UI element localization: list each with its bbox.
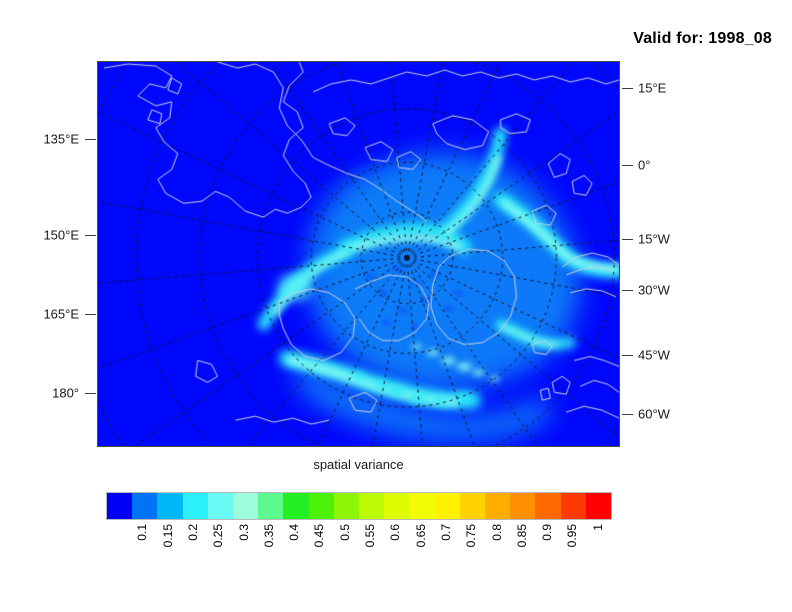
colorbar-band	[107, 493, 132, 519]
colorbar-band	[535, 493, 560, 519]
colorbar-band	[460, 493, 485, 519]
colorbar-tick-label: 0.75	[464, 524, 478, 547]
colorbar-band	[435, 493, 460, 519]
colorbar-tick-label: 0.3	[237, 524, 251, 541]
colorbar-tick-label: 0.6	[388, 524, 402, 541]
axis-tick	[85, 235, 96, 236]
colorbar-tick-label: 0.1	[135, 524, 149, 541]
axis-tick	[622, 165, 633, 166]
colorbar-band	[183, 493, 208, 519]
colorbar-band	[258, 493, 283, 519]
colorbar-band	[132, 493, 157, 519]
axis-tick	[85, 393, 96, 394]
axis-label: 135°E	[43, 132, 79, 145]
axis-tick	[85, 314, 96, 315]
colorbar-band	[208, 493, 233, 519]
colorbar-band	[157, 493, 182, 519]
colorbar-band	[359, 493, 384, 519]
axis-tick	[622, 239, 633, 240]
axis-label: 30°W	[638, 284, 670, 297]
colorbar-tick-label: 0.7	[439, 524, 453, 541]
colorbar-band	[586, 493, 611, 519]
colorbar-caption: spatial variance	[97, 457, 620, 472]
colorbar-band	[283, 493, 308, 519]
colorbar-tick-label: 0.35	[262, 524, 276, 547]
colorbar-tick-label: 0.25	[211, 524, 225, 547]
colorbar-band	[309, 493, 334, 519]
axis-tick	[85, 139, 96, 140]
colorbar-swatches	[106, 492, 612, 520]
colorbar-tick-label: 0.4	[287, 524, 301, 541]
axis-label: 180°	[52, 386, 79, 399]
colorbar-tick-label: 0.55	[363, 524, 377, 547]
colorbar-band	[233, 493, 258, 519]
axis-label: 15°E	[638, 82, 666, 95]
axis-label: 150°E	[43, 228, 79, 241]
axis-label: 45°W	[638, 349, 670, 362]
colorbar-band	[334, 493, 359, 519]
colorbar-tick-label: 0.2	[186, 524, 200, 541]
colorbar-band	[409, 493, 434, 519]
colorbar-tick-label: 0.95	[565, 524, 579, 547]
colorbar-tick-label: 0.65	[414, 524, 428, 547]
colorbar-tick-label: 0.85	[515, 524, 529, 547]
colorbar-tick-label: 0.5	[338, 524, 352, 541]
axis-tick	[622, 88, 633, 89]
colorbar-tick-label: 0.45	[312, 524, 326, 547]
axis-label: 0°	[638, 159, 650, 172]
colorbar-tick-label: 0.15	[161, 524, 175, 547]
colorbar-tick-label: 0.8	[490, 524, 504, 541]
colorbar-tick-label: 1	[591, 524, 605, 531]
colorbar-band	[384, 493, 409, 519]
axis-label: 60°W	[638, 408, 670, 421]
axis-tick	[622, 414, 633, 415]
page-title: Valid for: 1998_08	[633, 30, 772, 48]
axis-tick	[622, 290, 633, 291]
map-plot-frame	[97, 61, 620, 447]
axis-label: 15°W	[638, 232, 670, 245]
axis-label: 165°E	[43, 307, 79, 320]
axis-tick	[622, 355, 633, 356]
colorbar-band	[485, 493, 510, 519]
colorbar-band	[510, 493, 535, 519]
colorbar	[106, 492, 612, 520]
map-canvas	[98, 62, 619, 446]
colorbar-tick-labels: 0.10.150.20.250.30.350.40.450.50.550.60.…	[106, 524, 612, 584]
colorbar-tick-label: 0.9	[540, 524, 554, 541]
colorbar-band	[561, 493, 586, 519]
